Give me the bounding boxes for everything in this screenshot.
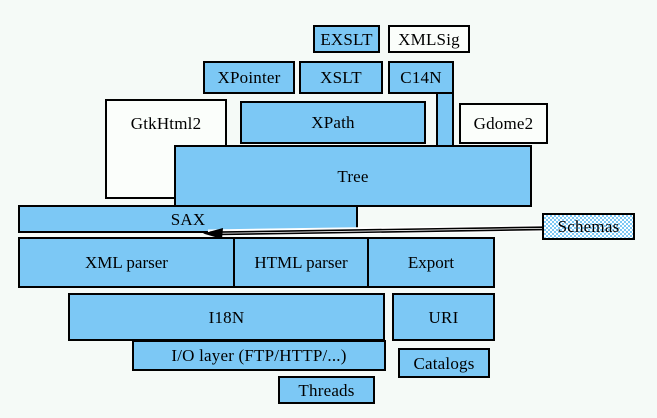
node-gtkhtml2-label: GtkHtml2 (131, 115, 202, 132)
node-export[interactable]: Export (369, 239, 493, 286)
node-gdome2[interactable]: Gdome2 (459, 103, 548, 144)
node-schemas-label: Schemas (558, 218, 620, 235)
node-html-parser[interactable]: HTML parser (235, 239, 369, 286)
node-uri[interactable]: URI (392, 293, 495, 341)
node-exslt-label: EXSLT (320, 31, 372, 48)
node-uri-label: URI (429, 309, 459, 326)
node-io-layer[interactable]: I/O layer (FTP/HTTP/...) (132, 340, 386, 371)
node-i18n[interactable]: I18N (68, 293, 385, 341)
node-xml-parser[interactable]: XML parser (20, 239, 235, 286)
node-exslt[interactable]: EXSLT (313, 25, 380, 53)
node-xmlsig[interactable]: XMLSig (388, 25, 470, 53)
node-xslt[interactable]: XSLT (299, 61, 383, 94)
node-schemas[interactable]: Schemas (542, 213, 635, 240)
node-i18n-label: I18N (209, 309, 245, 326)
node-xml-parser-label: XML parser (85, 253, 168, 273)
node-threads[interactable]: Threads (278, 376, 375, 404)
connector-c14n-to-tree (436, 94, 454, 146)
node-xpointer-label: XPointer (218, 69, 281, 86)
node-xpath-label: XPath (311, 114, 355, 131)
node-catalogs[interactable]: Catalogs (398, 348, 490, 378)
node-sax[interactable]: SAX (18, 205, 358, 233)
node-sax-label: SAX (171, 211, 206, 228)
node-c14n[interactable]: C14N (388, 61, 454, 94)
architecture-diagram: EXSLT XMLSig XPointer XSLT C14N GtkHtml2… (0, 0, 657, 418)
node-xslt-label: XSLT (320, 69, 362, 86)
node-threads-label: Threads (298, 382, 354, 399)
node-io-layer-label: I/O layer (FTP/HTTP/...) (171, 347, 346, 364)
node-tree[interactable]: Tree (174, 145, 532, 207)
node-export-label: Export (408, 253, 454, 273)
node-c14n-label: C14N (400, 69, 441, 86)
node-xpointer[interactable]: XPointer (203, 61, 295, 94)
node-tree-label: Tree (337, 168, 368, 185)
node-html-parser-label: HTML parser (254, 253, 347, 273)
node-xmlsig-label: XMLSig (398, 31, 460, 48)
node-gdome2-label: Gdome2 (474, 115, 534, 132)
node-catalogs-label: Catalogs (413, 355, 474, 372)
node-parser-group: XML parser HTML parser Export (18, 237, 495, 288)
node-xpath[interactable]: XPath (240, 101, 426, 144)
